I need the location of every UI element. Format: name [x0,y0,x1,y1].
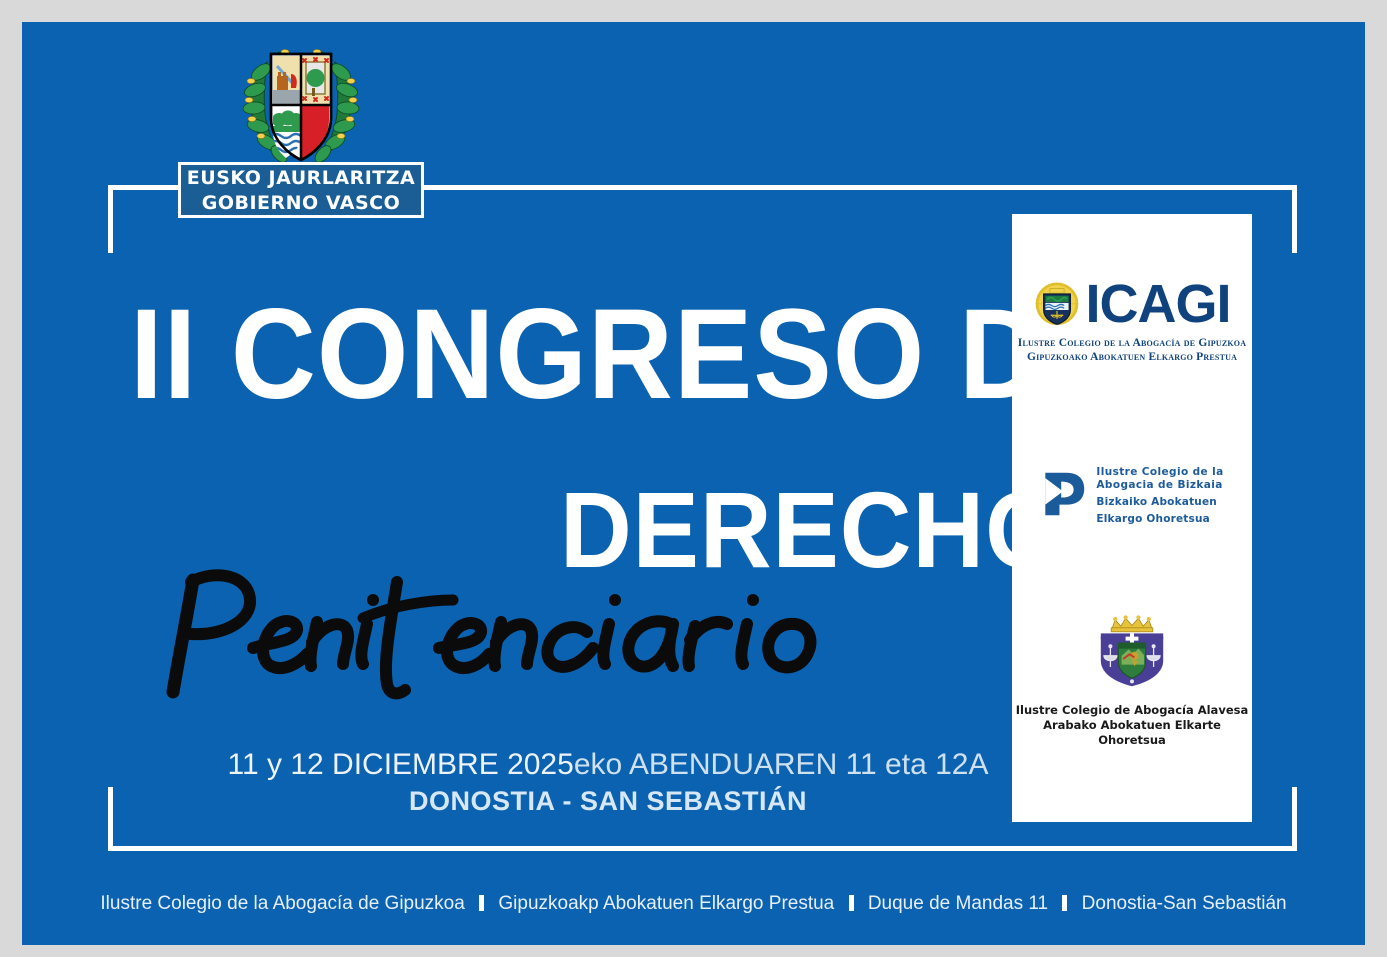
logo-alava: Ilustre Colegio de Abogacía Alavesa Arab… [1012,614,1252,748]
poster-root: EUSKO JAURLARITZA GOBIERNO VASCO II CONG… [0,0,1387,957]
alava-crest-icon [1088,675,1176,692]
footer-line: Ilustre Colegio de la Abogacía de Gipuzk… [0,893,1387,915]
icagi-wordmark: ICAGI [1085,277,1230,331]
logo-bizkaia: Ilustre Colegio de la Abogacia de Bizkai… [1012,466,1252,526]
event-city: DONOSTIA - SAN SEBASTIÁN [108,786,1108,817]
bizkaia-name-es-line2: Abogacia de Bizkaia [1096,479,1223,492]
icagi-crest-icon [1033,278,1081,331]
title-line-1: II CONGRESO DE [130,295,1124,415]
frame-bottom-right-vertical [1292,787,1297,851]
title-script-penitenciario [135,560,975,700]
logo-icagi: ICAGI Ilustre Colegio de la Abogacía de … [1012,276,1252,363]
event-date-eu: eko ABENDUAREN 11 eta 12A [574,748,989,781]
footer-item-3: Duque de Mandas 11 [868,893,1048,914]
frame-bottom-middle-horizontal [228,846,1178,851]
icagi-subtitle-es: Ilustre Colegio de la Abogacía de Gipuzk… [1012,337,1252,349]
bizkaia-name-es-line1: Ilustre Colegio de la [1096,466,1223,479]
frame-top-right-vertical [1292,185,1297,253]
alava-name-eu: Arabako Abokatuen Elkarte Ohoretsua [1012,718,1252,748]
footer-separator-icon [1062,895,1067,911]
basque-coat-of-arms-icon [233,40,369,168]
footer-item-4: Donostia-San Sebastián [1082,893,1287,914]
footer-item-2: Gipuzkoakp Abokatuen Elkargo Prestua [498,893,834,914]
bizkaia-name-eu-line1: Bizkaiko Abokatuen [1096,496,1223,509]
frame-top-right-horizontal [1178,185,1297,190]
bizkaia-name-eu-line2: Elkargo Ohoretsua [1096,513,1223,526]
bizkaia-mark-icon [1040,469,1086,524]
icagi-subtitle-eu: Gipuzkoako Abokatuen Elkargo Prestua [1012,351,1252,363]
alava-name-es: Ilustre Colegio de Abogacía Alavesa [1012,703,1252,718]
gov-logo-textbox: EUSKO JAURLARITZA GOBIERNO VASCO [178,162,424,218]
basque-government-logo: EUSKO JAURLARITZA GOBIERNO VASCO [178,40,424,218]
footer-separator-icon [849,895,854,911]
sponsor-logo-panel: ICAGI Ilustre Colegio de la Abogacía de … [1012,214,1252,822]
footer-item-1: Ilustre Colegio de la Abogacía de Gipuzk… [100,893,464,914]
frame-bottom-left-horizontal [108,846,228,851]
gov-logo-line-eu: EUSKO JAURLARITZA [181,166,421,191]
event-date-es: 11 y 12 DICIEMBRE 2025 [228,748,574,781]
frame-top-left-vertical [108,185,113,253]
frame-bottom-right-horizontal [1178,846,1297,851]
event-date-line: 11 y 12 DICIEMBRE 2025eko ABENDUAREN 11 … [108,748,1108,782]
footer-separator-icon [479,895,484,911]
gov-logo-line-es: GOBIERNO VASCO [181,191,421,215]
